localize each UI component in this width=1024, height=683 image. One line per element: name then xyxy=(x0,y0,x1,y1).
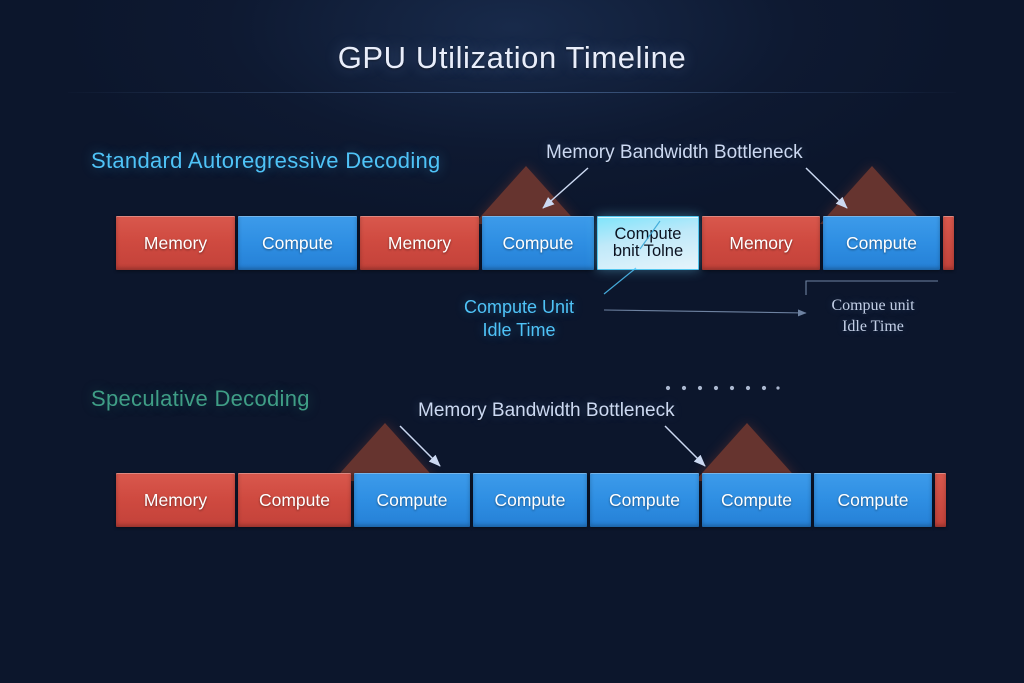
timeline-row-standard: MemoryComputeMemoryComputeComputebnit To… xyxy=(116,216,945,270)
timeline-block-compute[interactable]: Compute xyxy=(354,473,470,527)
section-label-speculative: Speculative Decoding xyxy=(91,386,310,412)
page-title: GPU Utilization Timeline xyxy=(0,40,1024,76)
bottleneck-label-standard: Memory Bandwidth Bottleneck xyxy=(546,142,803,164)
idle-line-1: Compute Unit xyxy=(449,296,589,319)
block-label-line-1: Compute xyxy=(613,226,683,243)
block-label: Compute xyxy=(721,491,792,509)
section-label-standard: Standard Autoregressive Decoding xyxy=(91,148,441,174)
timeline-block-memory[interactable]: Memory xyxy=(360,216,479,270)
timeline-block-compute[interactable]: Compute xyxy=(590,473,699,527)
block-label: Compute xyxy=(494,491,565,509)
timeline-block-memory[interactable]: Compute xyxy=(238,473,351,527)
block-label-line-2: bnit Tolne xyxy=(613,243,683,260)
timeline-block-compute[interactable]: Compute xyxy=(814,473,932,527)
timeline-row-speculative: MemoryComputeComputeComputeComputeComput… xyxy=(116,473,945,527)
block-label: Compute xyxy=(376,491,447,509)
idle-leader-line xyxy=(604,268,636,294)
idle-span-bracket xyxy=(806,281,938,295)
slide-canvas: GPU Utilization Timeline Standard Autore… xyxy=(0,0,1024,683)
block-label: Compute xyxy=(259,491,330,509)
compute-idle-annotation-pale: Compue unit Idle Time xyxy=(808,296,938,338)
block-label: Compute xyxy=(262,234,333,252)
timeline-block-compute[interactable]: Compute xyxy=(238,216,357,270)
block-label: Memory xyxy=(729,234,792,252)
block-label: Memory xyxy=(144,491,207,509)
title-divider xyxy=(68,92,956,93)
block-label: Compute xyxy=(846,234,917,252)
block-label: Compute xyxy=(609,491,680,509)
timeline-block-compute[interactable]: Compute xyxy=(473,473,587,527)
idle-line-2: Idle Time xyxy=(808,317,938,338)
bottleneck-label-speculative: Memory Bandwidth Bottleneck xyxy=(418,400,675,422)
block-label: Compute xyxy=(502,234,573,252)
timeline-block-sliver xyxy=(943,216,954,270)
timeline-block-memory[interactable]: Memory xyxy=(116,216,235,270)
block-label: Memory xyxy=(388,234,451,252)
compute-idle-annotation-cyan: Compute Unit Idle Time xyxy=(449,296,589,342)
timeline-block-compute[interactable]: Compute xyxy=(482,216,594,270)
block-label: Memory xyxy=(144,234,207,252)
timeline-block-compute[interactable]: Compute xyxy=(702,473,811,527)
timeline-block-memory[interactable]: Memory xyxy=(702,216,820,270)
block-label: Compute xyxy=(837,491,908,509)
timeline-block-memory[interactable]: Memory xyxy=(116,473,235,527)
idle-line-2: Idle Time xyxy=(449,319,589,342)
idle-line-1: Compue unit xyxy=(808,296,938,317)
timeline-block-highlighted[interactable]: Computebnit Tolne xyxy=(597,216,699,270)
timeline-block-compute[interactable]: Compute xyxy=(823,216,940,270)
progress-dots xyxy=(666,386,780,390)
timeline-block-sliver xyxy=(935,473,946,527)
idle-connector-arrow xyxy=(604,310,806,313)
